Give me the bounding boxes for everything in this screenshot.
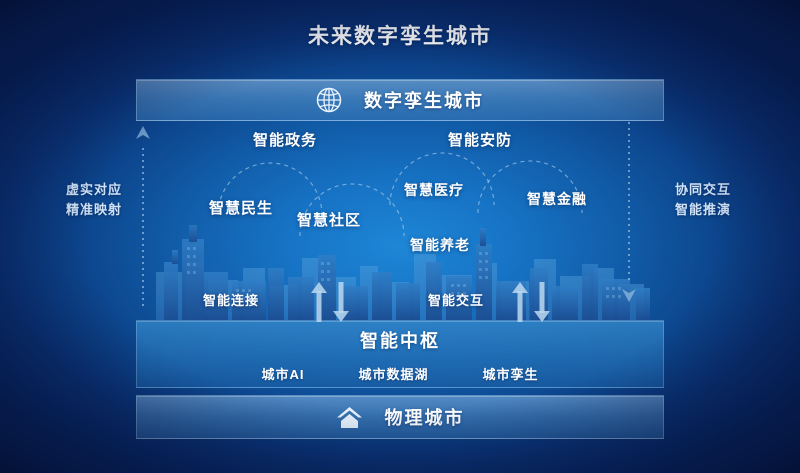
service-label-smart-elderly-care[interactable]: 智能养老 (410, 235, 470, 255)
arrow-up-icon (310, 282, 328, 322)
service-label-smart-security[interactable]: 智能安防 (448, 129, 512, 150)
caption-left-line1: 虚实对应 (42, 180, 146, 200)
service-label-smart-livelihood[interactable]: 智慧民生 (209, 197, 273, 218)
service-label-smart-community[interactable]: 智慧社区 (297, 209, 361, 230)
flow-label-smart-connection: 智能连接 (203, 290, 259, 309)
service-label-smart-healthcare[interactable]: 智慧医疗 (404, 180, 464, 200)
panel-physical-city[interactable]: 物理城市 (136, 395, 664, 439)
service-label-smart-government[interactable]: 智能政务 (253, 129, 317, 150)
arrow-down-icon (332, 282, 350, 322)
panel-digital-twin-city[interactable]: 数字孪生城市 (136, 79, 664, 121)
globe-icon (316, 87, 342, 113)
hub-item-city-data-lake[interactable]: 城市数据湖 (358, 364, 428, 383)
hub-item-list: 城市AI 城市数据湖 城市孪生 (261, 364, 538, 383)
home-icon (336, 405, 363, 430)
panel-intelligent-hub[interactable]: 智能中枢 城市AI 城市数据湖 城市孪生 (136, 320, 664, 388)
arrow-up-icon (511, 282, 529, 322)
arrow-pair-smart-interaction (511, 282, 551, 322)
caption-right: 协同交互 智能推演 (648, 180, 758, 220)
hub-item-city-ai[interactable]: 城市AI (261, 364, 304, 383)
page-title: 未来数字孪生城市 (0, 20, 800, 50)
flow-label-smart-interaction: 智能交互 (428, 290, 484, 309)
digital-twin-city-diagram: 未来数字孪生城市 数字孪生城市 物理城市 智能中枢 城市AI (0, 0, 800, 473)
service-label-smart-finance[interactable]: 智慧金融 (527, 189, 587, 209)
hub-item-city-twin[interactable]: 城市孪生 (483, 364, 539, 383)
panel-bottom-label: 物理城市 (385, 404, 465, 430)
caption-left: 虚实对应 精准映射 (42, 180, 146, 220)
arrow-down-icon (533, 282, 551, 322)
caption-left-line2: 精准映射 (42, 200, 146, 220)
arrow-up-dotted-icon (134, 122, 152, 306)
caption-right-line2: 智能推演 (648, 200, 758, 220)
arrow-down-dotted-icon (620, 122, 638, 306)
panel-top-label: 数字孪生城市 (364, 87, 484, 113)
arrow-pair-smart-connection (310, 282, 350, 322)
caption-right-line1: 协同交互 (648, 180, 758, 200)
hub-title: 智能中枢 (360, 327, 440, 353)
